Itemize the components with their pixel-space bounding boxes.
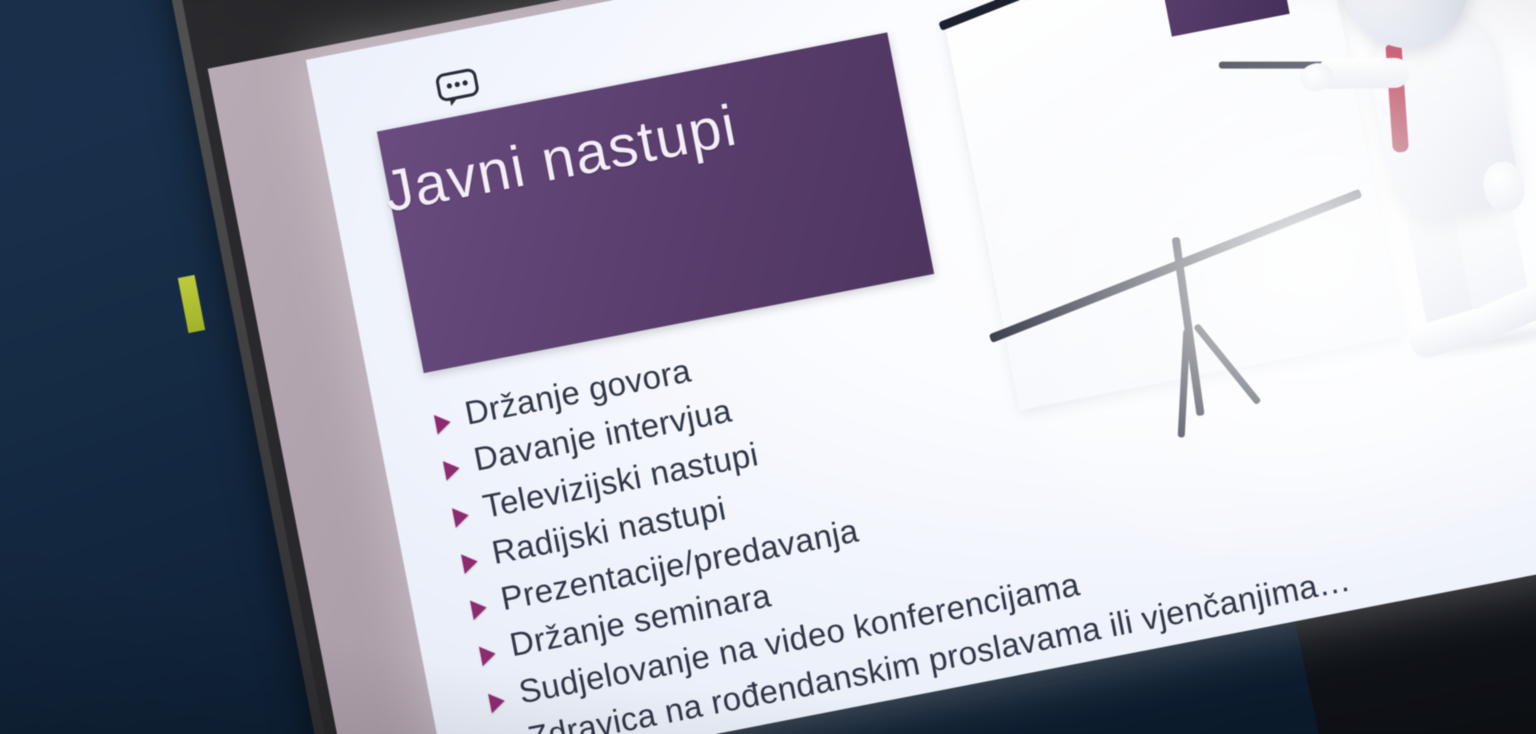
triangle-bullet-icon [461,551,480,573]
triangle-bullet-icon [479,644,498,666]
triangle-bullet-icon [470,598,489,620]
triangle-bullet-icon [443,459,462,481]
speech-bubble-icon [433,66,483,110]
triangle-bullet-icon [434,412,453,434]
triangle-bullet-icon [488,691,507,713]
triangle-bullet-icon [452,505,471,527]
screenshot-root: Javni nastupi Držanje govora Davanje int… [0,0,1536,734]
